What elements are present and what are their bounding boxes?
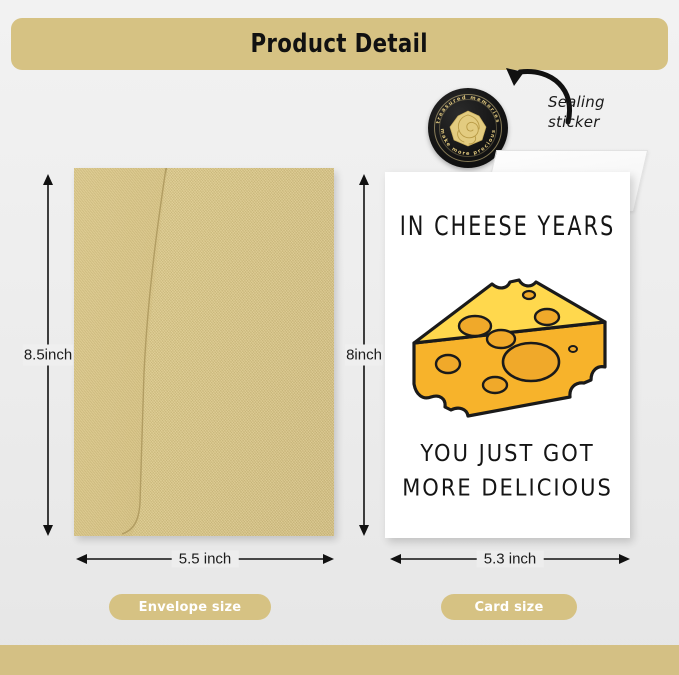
envelope-image [74, 168, 334, 536]
envelope-width-dimension: 5.5 inch [76, 548, 334, 570]
card-caption-text: Card size [475, 600, 544, 615]
card-subtext: YOU JUST GOT MORE DELICIOUS [385, 436, 630, 505]
sticker-label-line2: sticker [548, 112, 656, 132]
card-headline-text: IN CHEESE YEARS [397, 212, 618, 242]
cheese-wedge-icon [407, 264, 612, 429]
envelope-caption-text: Envelope size [139, 600, 242, 615]
product-detail-page: Product Detail treasured memories make m… [0, 0, 679, 675]
sticker-label: Sealing sticker [548, 92, 656, 132]
envelope-size-caption: Envelope size [109, 594, 271, 620]
card-subtext-line1: YOU JUST GOT [385, 436, 630, 471]
envelope-width-label: 5.5 inch [172, 551, 239, 568]
card-size-caption: Card size [441, 594, 577, 620]
card-width-dimension: 5.3 inch [390, 548, 630, 570]
envelope-height-label: 8.5inch [23, 345, 73, 366]
bottom-accent-bar [0, 645, 679, 675]
card-subtext-line2: MORE DELICIOUS [385, 471, 630, 506]
rose-illustration-icon [446, 107, 490, 149]
sticker-label-line1: Sealing [548, 92, 656, 112]
card-height-dimension: 8inch [347, 174, 381, 536]
header-banner: Product Detail [11, 18, 668, 70]
card-front-image: IN CHEESE YEARS YOU JUST GOT MO [385, 172, 630, 538]
card-width-label: 5.3 inch [477, 551, 544, 568]
envelope-height-dimension: 8.5inch [31, 174, 65, 536]
page-title: Product Detail [251, 29, 428, 59]
card-height-label: 8inch [345, 345, 383, 366]
envelope-flap [74, 168, 167, 536]
